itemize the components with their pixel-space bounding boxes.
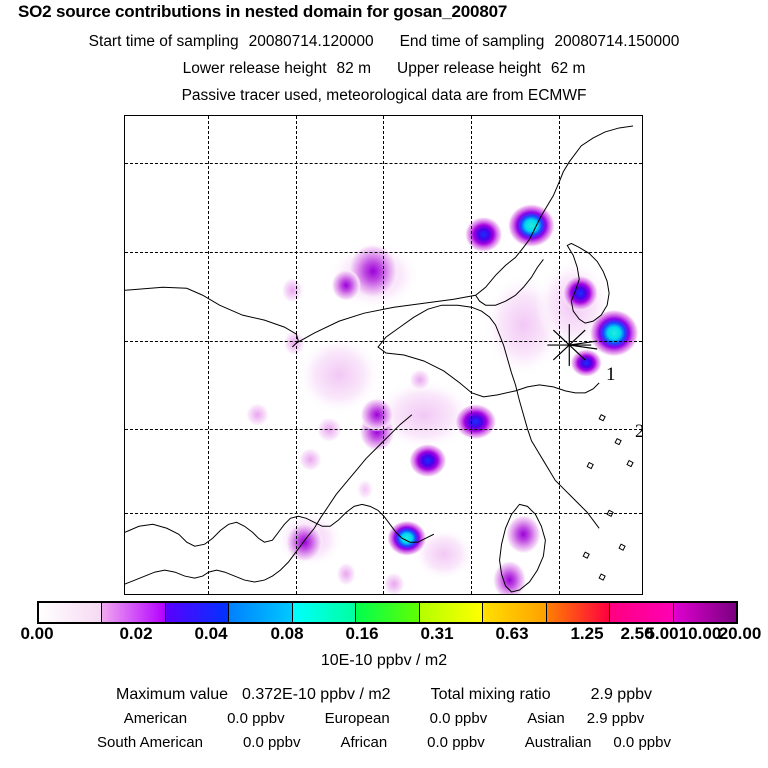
gridline-vertical	[383, 116, 384, 594]
region-name-south-american: South American	[97, 734, 203, 751]
end-time-label: End time of sampling	[400, 33, 545, 50]
colorbar-tick-2: 0.04	[194, 624, 227, 644]
colorbar-segment-3	[229, 603, 292, 622]
plume-hotspot	[360, 398, 394, 432]
plume-hotspot	[336, 562, 356, 586]
stats-row-regions-2: South American0.0 ppbvAfrican0.0 ppbvAus…	[0, 734, 768, 751]
end-time-value: 20080714.150000	[554, 33, 679, 50]
colorbar-segment-0	[39, 603, 102, 622]
plume-hotspot	[246, 403, 270, 427]
plume-hotspot	[383, 572, 405, 594]
plume-hotspot	[409, 444, 447, 478]
gridline-vertical	[208, 116, 209, 594]
plume-hotspot	[298, 448, 322, 472]
colorbar-unit-label: 10E-10 ppbv / m2	[0, 652, 768, 670]
colorbar-tick-6: 0.63	[495, 624, 528, 644]
plume-hotspot	[508, 204, 556, 248]
region-value-asian: 2.9 ppbv	[587, 710, 645, 727]
upper-release-height-value: 62 m	[551, 60, 585, 77]
gridline-vertical	[296, 116, 297, 594]
colorbar-segment-5	[356, 603, 419, 622]
colorbar-tick-11: 20.00	[719, 624, 762, 644]
colorbar-segment-8	[547, 603, 610, 622]
plume-hotspot	[506, 514, 542, 554]
colorbar-tick-0: 0.00	[20, 624, 53, 644]
upper-release-height-label: Upper release height	[397, 60, 541, 77]
gridline-horizontal	[125, 341, 642, 342]
colorbar-tick-10: 10.00	[679, 624, 722, 644]
gridline-horizontal	[125, 252, 642, 253]
stats-row-max: Maximum value0.372E-10 ppbv / m2Total mi…	[0, 686, 768, 704]
region-label-1: 1	[606, 364, 616, 386]
tracer-note: Passive tracer used, meteorological data…	[0, 87, 768, 105]
stats-row-regions-1: American0.0 ppbvEuropean0.0 ppbvAsian2.9…	[0, 710, 768, 727]
coastline-layer	[125, 126, 633, 592]
start-time-value: 20080714.120000	[249, 33, 374, 50]
max-value-value: 0.372E-10 ppbv / m2	[242, 686, 391, 703]
plume-hotspot	[356, 478, 374, 500]
start-time-label: Start time of sampling	[89, 33, 239, 50]
colorbar-tick-3: 0.08	[270, 624, 303, 644]
plume-hotspot	[387, 520, 427, 556]
gridline-horizontal	[125, 513, 642, 514]
page-title: SO2 source contributions in nested domai…	[0, 2, 768, 22]
colorbar-segment-2	[166, 603, 229, 622]
region-value-australian: 0.0 ppbv	[613, 734, 671, 751]
colorbar-segment-1	[102, 603, 165, 622]
sampling-time-line: Start time of sampling20080714.120000End…	[0, 33, 768, 51]
plume-hotspot	[331, 269, 361, 301]
plume-hotspot	[283, 330, 305, 356]
colorbar-tick-9: 5.00	[645, 624, 678, 644]
region-name-asian: Asian	[527, 710, 565, 727]
gridline-vertical	[471, 116, 472, 594]
region-value-american: 0.0 ppbv	[227, 710, 285, 727]
map-plot-panel: 1 2	[124, 115, 643, 595]
region-value-african: 0.0 ppbv	[427, 734, 485, 751]
colorbar-tick-4: 0.16	[345, 624, 378, 644]
colorbar-segment-4	[293, 603, 356, 622]
region-name-american: American	[124, 710, 187, 727]
lower-release-height-value: 82 m	[337, 60, 371, 77]
max-value-label: Maximum value	[116, 686, 228, 703]
plume-hotspot	[589, 309, 639, 357]
colorbar-segment-7	[483, 603, 546, 622]
plume-hotspot	[285, 522, 323, 562]
region-name-african: African	[340, 734, 387, 751]
plume-hotspot	[409, 369, 431, 391]
gridline-vertical	[559, 116, 560, 594]
colorbar-tick-labels: 0.000.020.040.080.160.310.631.252.505.00…	[0, 624, 768, 644]
plume-hotspot	[570, 349, 602, 377]
colorbar	[37, 601, 738, 624]
figure-root: SO2 source contributions in nested domai…	[0, 0, 768, 768]
lower-release-height-label: Lower release height	[183, 60, 327, 77]
region-name-australian: Australian	[525, 734, 592, 751]
gridline-horizontal	[125, 429, 642, 430]
colorbar-tick-1: 0.02	[119, 624, 152, 644]
colorbar-segment-10	[674, 603, 736, 622]
total-mixing-ratio-label: Total mixing ratio	[431, 686, 551, 703]
region-label-2: 2	[635, 421, 643, 443]
plume-haze-layer	[275, 241, 611, 580]
colorbar-tick-7: 1.25	[570, 624, 603, 644]
region-name-european: European	[325, 710, 390, 727]
total-mixing-ratio-value: 2.9 ppbv	[591, 686, 652, 703]
plume-hotspot	[562, 275, 598, 311]
colorbar-segment-9	[610, 603, 673, 622]
gridline-horizontal	[125, 163, 642, 164]
plume-hotspot	[281, 277, 303, 303]
release-height-line: Lower release height82 mUpper release he…	[0, 60, 768, 78]
region-value-european: 0.0 ppbv	[430, 710, 488, 727]
region-value-south-american: 0.0 ppbv	[243, 734, 301, 751]
colorbar-tick-5: 0.31	[420, 624, 453, 644]
colorbar-segment-6	[420, 603, 483, 622]
plume-hotspot	[455, 404, 497, 440]
